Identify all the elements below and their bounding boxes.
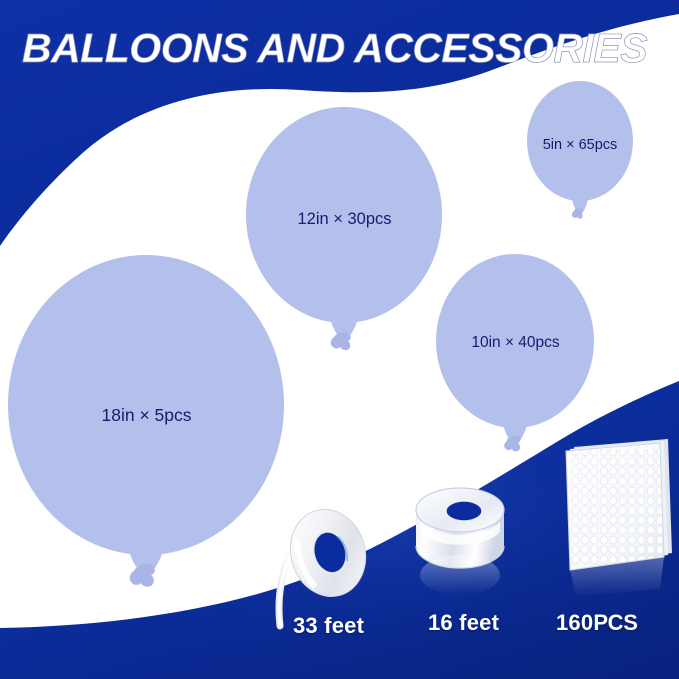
glue-dot-grid bbox=[570, 449, 662, 565]
tape-roll-caption: 16 feet bbox=[428, 610, 499, 636]
tape-roll-reflection bbox=[420, 555, 500, 595]
balloon-10in: 10in × 40pcs bbox=[434, 252, 597, 454]
balloon-5in: 5in × 65pcs bbox=[525, 79, 635, 221]
ribbon-roll-caption: 33 feet bbox=[293, 613, 364, 639]
balloon-body bbox=[8, 255, 284, 555]
glue-dot-caption-unit: PCS bbox=[593, 610, 637, 635]
balloon-knot bbox=[572, 208, 583, 219]
glue-dot-caption-number: 160 bbox=[556, 610, 593, 635]
balloon-body bbox=[436, 254, 594, 428]
balloon-body bbox=[246, 107, 442, 323]
product-infographic: BALLOONS AND ACCESSORIES 18in × 5pcs 12i… bbox=[0, 0, 679, 679]
balloon-knot bbox=[331, 332, 351, 350]
glue-dot-caption: 160PCS bbox=[556, 610, 638, 636]
balloon-knot bbox=[504, 436, 520, 451]
balloon-knot bbox=[130, 564, 155, 587]
tape-roll-icon bbox=[408, 480, 528, 615]
balloon-12in: 12in × 30pcs bbox=[244, 105, 445, 353]
glue-dot-sheet-icon bbox=[552, 437, 677, 602]
balloon-body bbox=[527, 81, 633, 201]
